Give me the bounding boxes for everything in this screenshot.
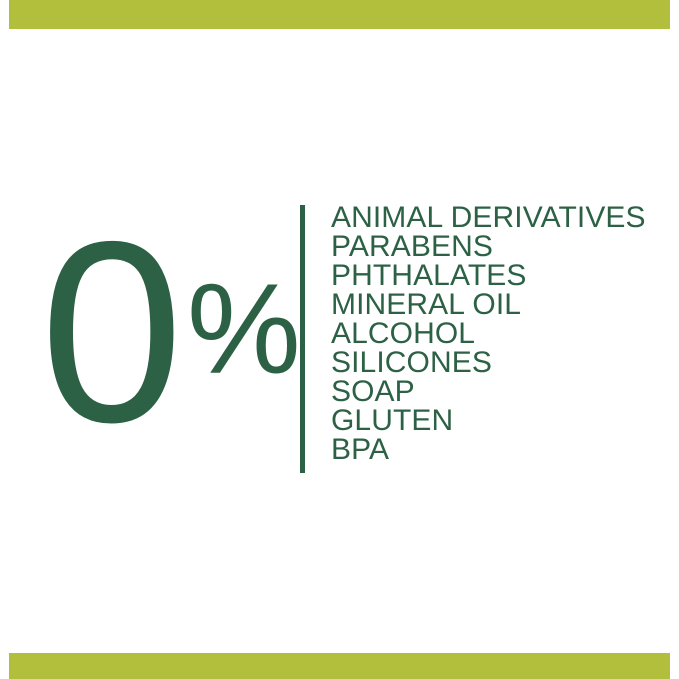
free-from-ingredient-list: ANIMAL DERIVATIVES PARABENS PHTHALATES M… (331, 203, 661, 464)
list-item: ALCOHOL (331, 319, 661, 348)
list-item: GLUTEN (331, 406, 661, 435)
bottom-accent-bar (9, 653, 670, 679)
list-item: SOAP (331, 377, 661, 406)
vertical-divider (300, 205, 305, 473)
list-item: PHTHALATES (331, 261, 661, 290)
list-item: BPA (331, 435, 661, 464)
top-accent-bar (9, 0, 670, 29)
list-item: MINERAL OIL (331, 290, 661, 319)
list-item: ANIMAL DERIVATIVES (331, 203, 661, 232)
free-from-claims-panel: 0 % ANIMAL DERIVATIVES PARABENS PHTHALAT… (0, 0, 679, 679)
list-item: PARABENS (331, 232, 661, 261)
percent-symbol: % (187, 270, 301, 390)
list-item: SILICONES (331, 348, 661, 377)
zero-percent-callout: 0 % (40, 232, 290, 437)
